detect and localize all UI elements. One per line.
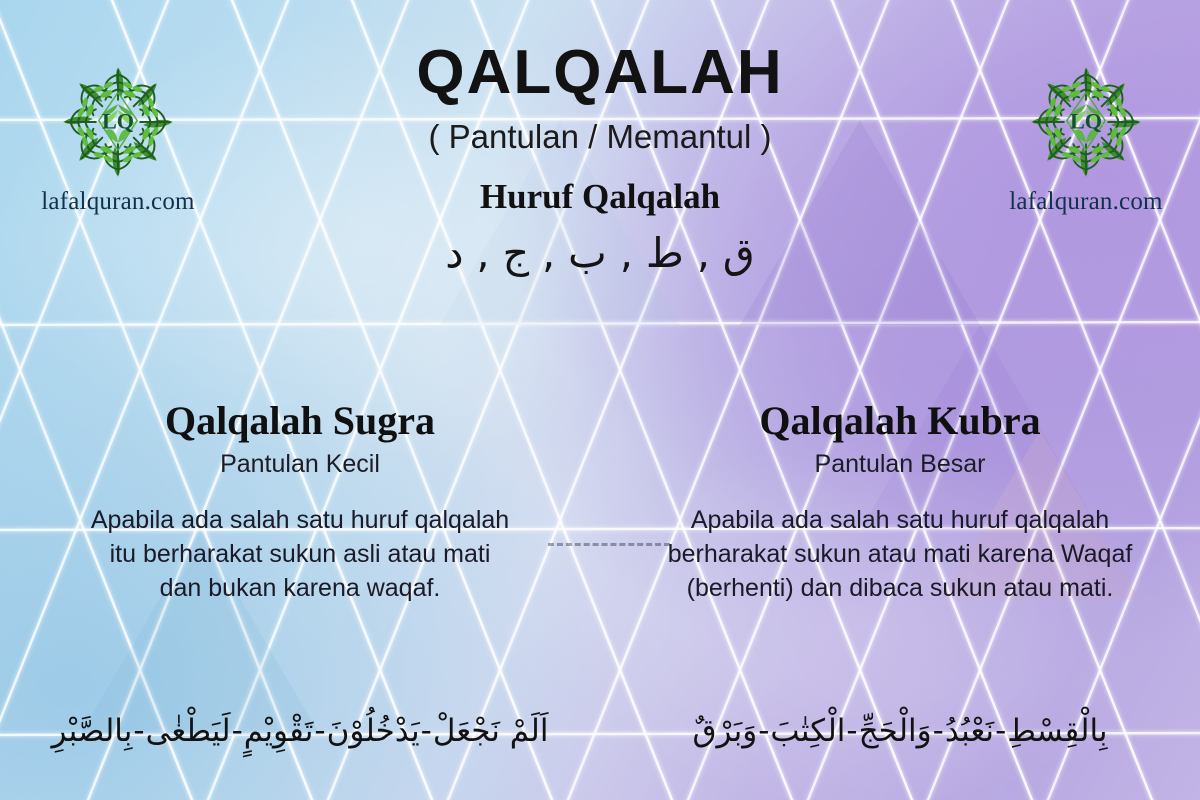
example-rows: بِالْقِسْطِ-نَعْبُدُ-وَالْحَجِّ-الْكِتٰب… (0, 708, 1200, 755)
kubra-example-2: نَعْبُدُ (945, 713, 994, 749)
example-separator: - (994, 713, 1007, 749)
sugra-example-4: لَيَطْغٰى (146, 713, 231, 749)
qalqalah-poster: LQ lafalquran.com (0, 0, 1200, 800)
kubra-description-line: Apabila ada salah satu huruf qalqalah (645, 503, 1155, 537)
sugra-example-1: اَلَمْ نَجْعَلْ (433, 713, 549, 749)
kubra-description: Apabila ada salah satu huruf qalqalah be… (645, 503, 1155, 605)
huruf-qalqalah-label: Huruf Qalqalah (0, 179, 1200, 214)
example-separator: - (420, 713, 433, 749)
column-qalqalah-kubra: Qalqalah Kubra Pantulan Besar Apabila ad… (600, 400, 1200, 605)
example-separator: - (132, 713, 145, 749)
kubra-heading: Qalqalah Kubra (616, 400, 1184, 442)
examples-kubra: بِالْقِسْطِ-نَعْبُدُ-وَالْحَجِّ-الْكِتٰب… (600, 708, 1200, 755)
example-separator: - (231, 713, 244, 749)
header: QALQALAH ( Pantulan / Memantul ) Huruf Q… (0, 42, 1200, 277)
sugra-example-2: يَدْخُلُوْنَ (327, 713, 420, 749)
sugra-example-line: اَلَمْ نَجْعَلْ-يَدْخُلُوْنَ-تَقْوِيْمٍ-… (52, 708, 549, 755)
kubra-example-3: وَالْحَجِّ (859, 713, 932, 749)
kubra-description-line: berharakat sukun atau mati karena Waqaf (645, 537, 1155, 571)
kubra-example-line: بِالْقِسْطِ-نَعْبُدُ-وَالْحَجِّ-الْكِتٰب… (692, 708, 1107, 755)
sugra-description-line: Apabila ada salah satu huruf qalqalah (45, 503, 555, 537)
sugra-example-5: بِالصَّبْرِ (52, 713, 133, 749)
example-separator: - (313, 713, 326, 749)
example-separator: - (845, 713, 858, 749)
column-qalqalah-sugra: Qalqalah Sugra Pantulan Kecil Apabila ad… (0, 400, 600, 605)
sugra-description-line: itu berharakat sukun asli atau mati (45, 537, 555, 571)
page-subtitle: ( Pantulan / Memantul ) (0, 120, 1200, 153)
example-separator: - (932, 713, 945, 749)
sugra-example-3: تَقْوِيْمٍ (244, 713, 314, 749)
definition-columns: Qalqalah Sugra Pantulan Kecil Apabila ad… (0, 400, 1200, 605)
sugra-description-line: dan bukan karena waqaf. (45, 571, 555, 605)
examples-sugra: اَلَمْ نَجْعَلْ-يَدْخُلُوْنَ-تَقْوِيْمٍ-… (0, 708, 600, 755)
sugra-subheading: Pantulan Kecil (16, 452, 584, 477)
sugra-description: Apabila ada salah satu huruf qalqalah it… (45, 503, 555, 605)
page-title: QALQALAH (0, 42, 1200, 104)
sugra-heading: Qalqalah Sugra (16, 400, 584, 442)
kubra-example-4: الْكِتٰبَ (770, 713, 845, 749)
kubra-example-1: بِالْقِسْطِ (1007, 713, 1107, 749)
kubra-example-5: وَبَرْقٌ (692, 713, 757, 749)
example-separator: - (757, 713, 770, 749)
kubra-subheading: Pantulan Besar (616, 452, 1184, 477)
kubra-description-line: (berhenti) dan dibaca sukun atau mati. (645, 571, 1155, 605)
huruf-qalqalah-letters: ق , ط , ب , ج , د (0, 230, 1200, 277)
